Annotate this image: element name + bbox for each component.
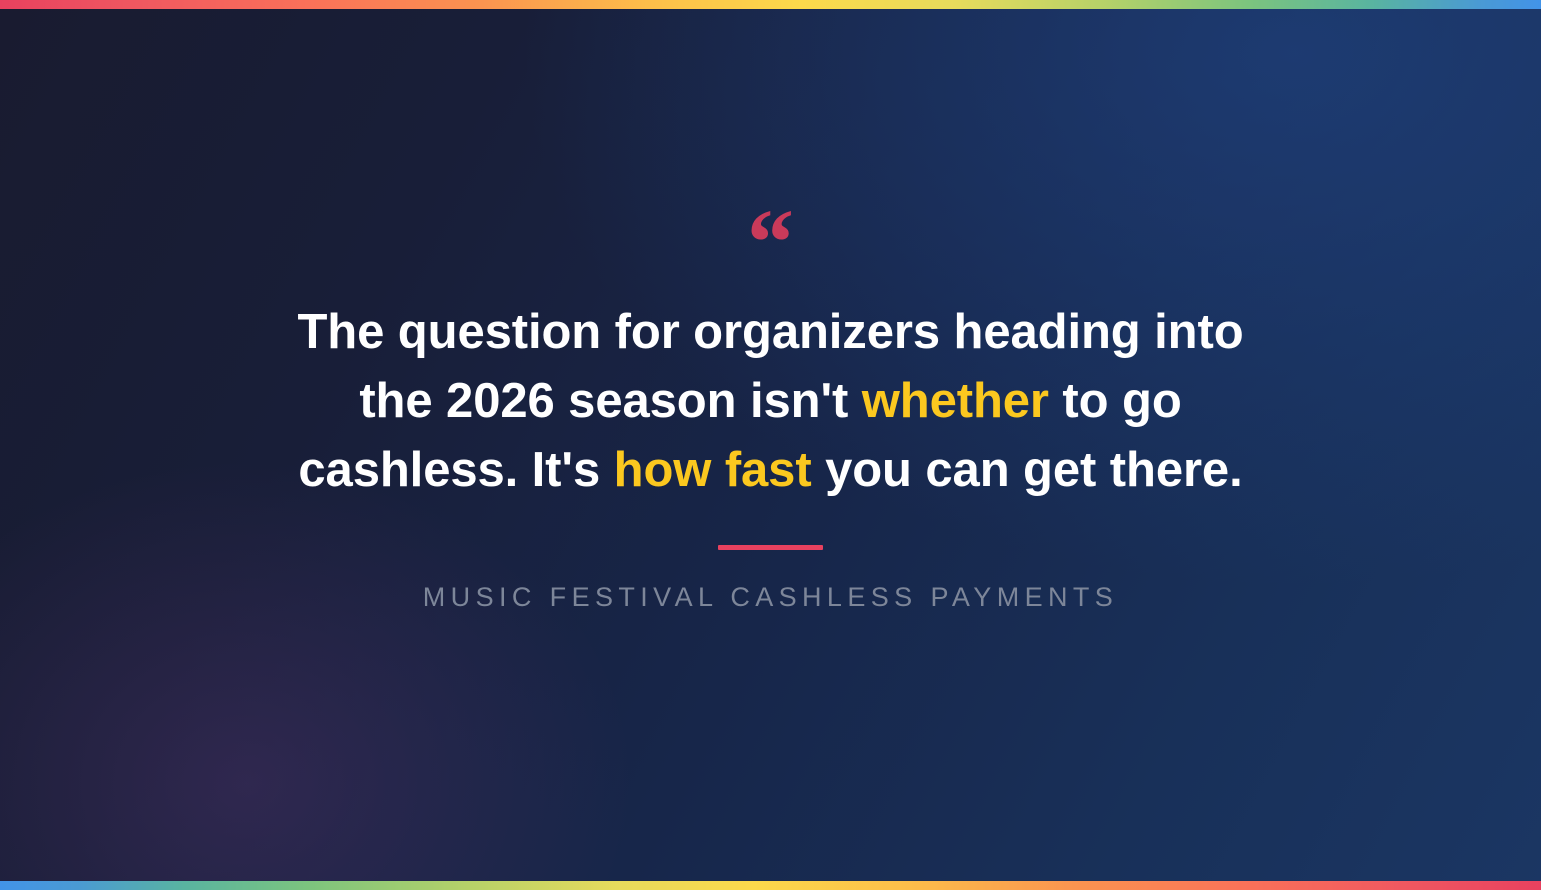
quote-slide: “ The question for organizers heading in… xyxy=(0,0,1541,890)
quote-text: The question for organizers heading into… xyxy=(291,298,1251,505)
slide-content: “ The question for organizers heading in… xyxy=(0,0,1541,890)
quote-segment-3: you can get there. xyxy=(812,443,1243,497)
top-rainbow-bar xyxy=(0,0,1541,9)
quote-highlight-whether: whether xyxy=(862,374,1049,428)
quote-highlight-how-fast: how fast xyxy=(614,443,812,497)
accent-divider xyxy=(718,545,823,550)
bottom-rainbow-bar xyxy=(0,881,1541,890)
open-quote-icon: “ xyxy=(747,196,794,266)
slide-kicker-label: MUSIC FESTIVAL CASHLESS PAYMENTS xyxy=(423,582,1118,613)
